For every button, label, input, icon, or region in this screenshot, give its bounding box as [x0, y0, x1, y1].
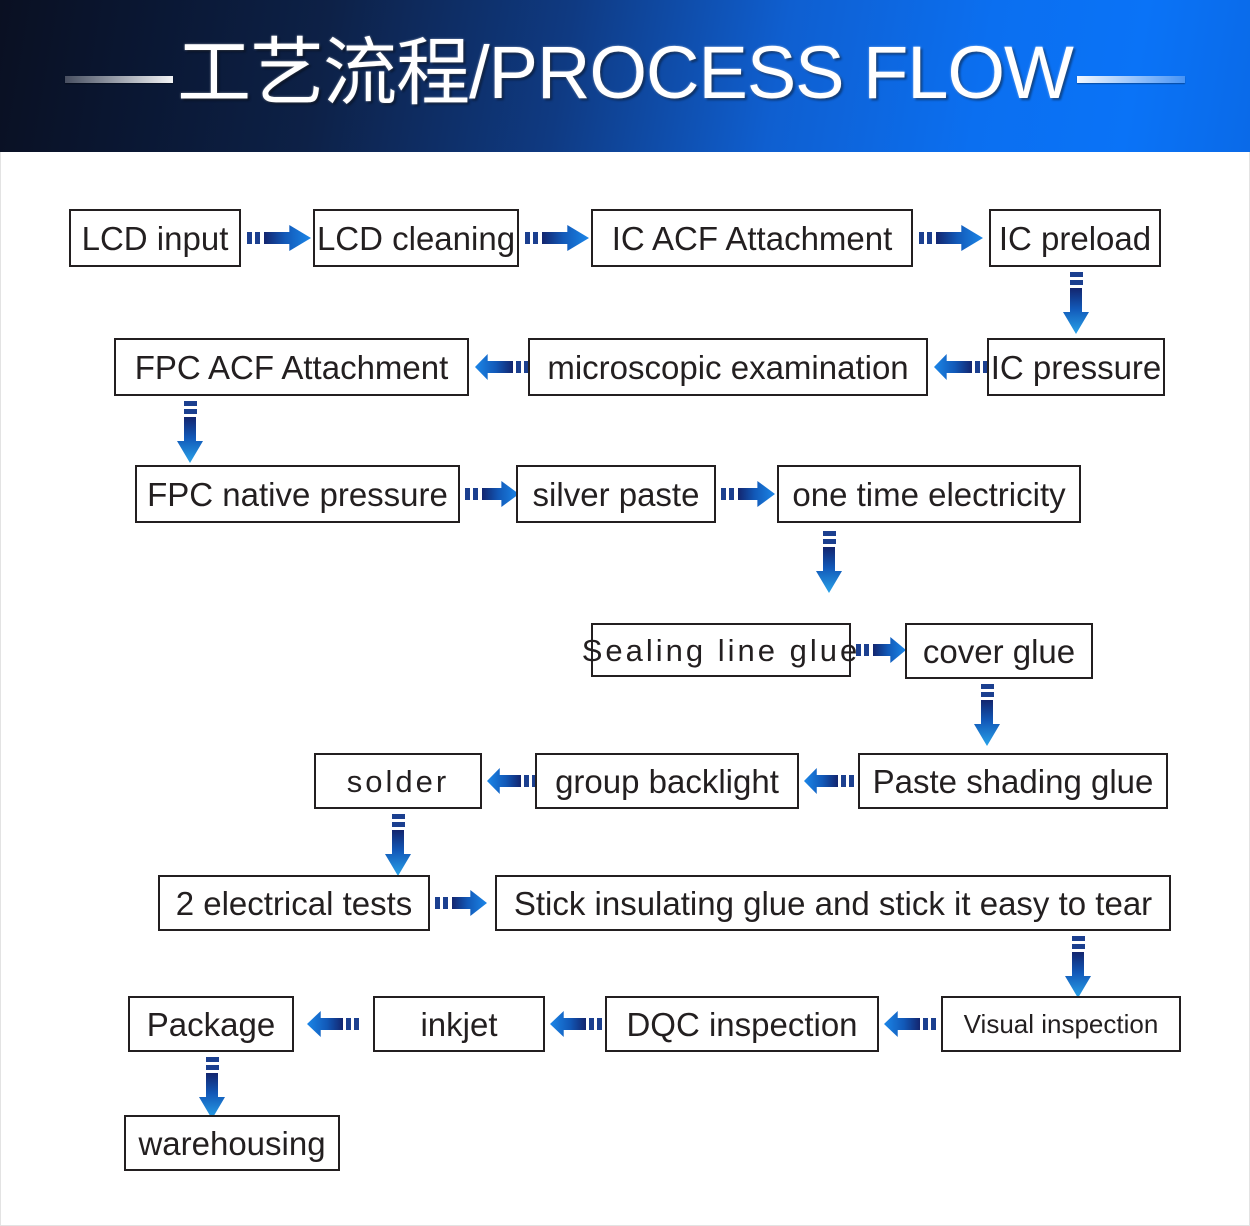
node-sealing-line-glue[interactable]: Sealing line glue — [591, 623, 851, 677]
node-label: Visual inspection — [964, 1011, 1159, 1037]
arrow-visual-inspection-to-dqc-inspection — [884, 1011, 936, 1037]
node-label: FPC ACF Attachment — [135, 351, 449, 384]
arrow-ic-pressure-to-microscopic-examination — [934, 354, 988, 380]
arrow-head-icon — [482, 481, 519, 507]
node-stick-insulating-glue[interactable]: Stick insulating glue and stick it easy … — [495, 875, 1171, 931]
arrow-group-backlight-to-solder — [487, 768, 537, 794]
node-silver-paste[interactable]: silver paste — [516, 465, 716, 523]
arrow-head-icon — [738, 481, 775, 507]
process-flow-page: 工艺流程/PROCESS FLOW — [0, 0, 1250, 1226]
node-ic-pressure[interactable]: IC pressure — [987, 338, 1165, 396]
node-label: IC ACF Attachment — [612, 222, 893, 255]
node-label: cover glue — [923, 635, 1075, 668]
arrow-dash-icon — [597, 1018, 602, 1030]
arrow-stick-insulating-glue-to-visual-inspection — [1065, 936, 1091, 996]
arrow-fpc-acf-attachment-to-fpc-native-pressure — [177, 401, 203, 463]
arrow-dash-icon — [975, 361, 980, 373]
arrow-dash-icon — [255, 232, 260, 244]
arrow-dash-icon — [392, 822, 405, 827]
node-ic-acf-attachment[interactable]: IC ACF Attachment — [591, 209, 913, 267]
page-header-banner: 工艺流程/PROCESS FLOW — [0, 0, 1250, 152]
arrow-dash-icon — [1070, 272, 1083, 277]
arrow-dash-icon — [184, 409, 197, 414]
arrow-dash-icon — [473, 488, 478, 500]
arrow-dash-icon — [354, 1018, 359, 1030]
node-label: LCD cleaning — [317, 222, 515, 255]
header-content: 工艺流程/PROCESS FLOW — [0, 0, 1250, 152]
arrow-dash-icon — [206, 1065, 219, 1070]
arrow-lcd-cleaning-to-ic-acf-attachment — [525, 225, 589, 251]
arrow-head-icon — [974, 700, 1000, 746]
arrow-dash-icon — [206, 1057, 219, 1062]
arrow-dash-icon — [823, 539, 836, 544]
arrow-head-icon — [177, 417, 203, 463]
arrow-head-icon — [1065, 952, 1091, 998]
arrow-dash-icon — [856, 644, 861, 656]
node-label: IC pressure — [991, 351, 1162, 384]
flowchart-canvas: LCD input LCD cleaning IC ACF Attachment — [0, 152, 1250, 1226]
arrow-dash-icon — [392, 814, 405, 819]
node-label: Stick insulating glue and stick it easy … — [514, 887, 1152, 920]
page-title: 工艺流程/PROCESS FLOW — [173, 36, 1077, 116]
arrow-head-icon — [1063, 288, 1089, 334]
arrow-head-icon — [816, 547, 842, 593]
node-label: Package — [147, 1008, 275, 1041]
header-rule-right-icon — [1077, 76, 1185, 83]
node-label: one time electricity — [792, 478, 1065, 511]
header-rule-left-icon — [65, 76, 173, 83]
node-label: silver paste — [533, 478, 700, 511]
arrow-dash-icon — [721, 488, 726, 500]
arrow-head-icon — [936, 225, 983, 251]
arrow-head-icon — [385, 830, 411, 876]
arrow-dash-icon — [927, 232, 932, 244]
node-label: Paste shading glue — [873, 765, 1154, 798]
arrow-2-electrical-tests-to-stick-insulating-glue — [435, 890, 487, 916]
arrow-dash-icon — [981, 692, 994, 697]
arrow-dash-icon — [864, 644, 869, 656]
node-label: LCD input — [82, 222, 229, 255]
node-paste-shading-glue[interactable]: Paste shading glue — [858, 753, 1168, 809]
node-label: group backlight — [555, 765, 779, 798]
node-label: DQC inspection — [626, 1008, 857, 1041]
node-visual-inspection[interactable]: Visual inspection — [941, 996, 1181, 1052]
arrow-head-icon — [804, 768, 838, 794]
arrow-dash-icon — [849, 775, 854, 787]
node-label: microscopic examination — [547, 351, 908, 384]
node-2-electrical-tests[interactable]: 2 electrical tests — [158, 875, 430, 931]
arrow-dash-icon — [533, 232, 538, 244]
arrow-cover-glue-to-paste-shading-glue — [974, 684, 1000, 744]
arrow-dash-icon — [1072, 944, 1085, 949]
node-ic-preload[interactable]: IC preload — [989, 209, 1161, 267]
arrow-head-icon — [550, 1011, 586, 1037]
arrow-head-icon — [199, 1073, 225, 1119]
arrow-dash-icon — [589, 1018, 594, 1030]
node-solder[interactable]: solder — [314, 753, 482, 809]
arrow-dash-icon — [981, 684, 994, 689]
arrow-dash-icon — [525, 232, 530, 244]
arrow-dash-icon — [1072, 936, 1085, 941]
node-label: IC preload — [999, 222, 1151, 255]
arrow-dash-icon — [184, 401, 197, 406]
arrow-dash-icon — [465, 488, 470, 500]
arrow-dash-icon — [516, 361, 521, 373]
arrow-dash-icon — [435, 897, 440, 909]
arrow-head-icon — [452, 890, 487, 916]
arrow-ic-preload-to-ic-pressure — [1063, 272, 1089, 334]
arrow-fpc-native-pressure-to-silver-paste — [465, 481, 519, 507]
arrow-head-icon — [264, 225, 311, 251]
arrow-silver-paste-to-one-time-electricity — [721, 481, 775, 507]
node-label: FPC native pressure — [147, 478, 448, 511]
arrow-microscopic-examination-to-fpc-acf-attachment — [475, 354, 529, 380]
arrow-inkjet-to-package — [307, 1011, 359, 1037]
node-label: inkjet — [420, 1008, 497, 1041]
arrow-head-icon — [873, 637, 906, 663]
node-microscopic-examination[interactable]: microscopic examination — [528, 338, 928, 396]
arrow-dash-icon — [443, 897, 448, 909]
node-label: Sealing line glue — [582, 635, 861, 666]
arrow-head-icon — [487, 768, 521, 794]
arrow-dash-icon — [1070, 280, 1083, 285]
node-label: 2 electrical tests — [176, 887, 413, 920]
arrow-solder-to-2-electrical-tests — [385, 814, 411, 874]
arrow-head-icon — [307, 1011, 343, 1037]
node-cover-glue[interactable]: cover glue — [905, 623, 1093, 679]
arrow-lcd-input-to-lcd-cleaning — [247, 225, 311, 251]
node-dqc-inspection[interactable]: DQC inspection — [605, 996, 879, 1052]
arrow-head-icon — [475, 354, 513, 380]
node-package[interactable]: Package — [128, 996, 294, 1052]
arrow-paste-shading-glue-to-group-backlight — [804, 768, 854, 794]
arrow-dash-icon — [919, 232, 924, 244]
arrow-one-time-electricity-to-sealing-line-glue — [816, 531, 842, 593]
node-lcd-input[interactable]: LCD input — [69, 209, 241, 267]
node-fpc-native-pressure[interactable]: FPC native pressure — [135, 465, 460, 523]
node-label: solder — [347, 766, 449, 797]
arrow-dqc-inspection-to-inkjet — [550, 1011, 602, 1037]
arrow-dash-icon — [247, 232, 252, 244]
arrow-ic-acf-attachment-to-ic-preload — [919, 225, 983, 251]
node-fpc-acf-attachment[interactable]: FPC ACF Attachment — [114, 338, 469, 396]
arrow-package-to-warehousing — [199, 1057, 225, 1115]
arrow-dash-icon — [923, 1018, 928, 1030]
arrow-head-icon — [542, 225, 589, 251]
arrow-dash-icon — [841, 775, 846, 787]
arrow-sealing-line-glue-to-cover-glue — [856, 637, 906, 663]
node-one-time-electricity[interactable]: one time electricity — [777, 465, 1081, 523]
arrow-dash-icon — [931, 1018, 936, 1030]
node-group-backlight[interactable]: group backlight — [535, 753, 799, 809]
arrow-dash-icon — [729, 488, 734, 500]
arrow-head-icon — [884, 1011, 920, 1037]
node-lcd-cleaning[interactable]: LCD cleaning — [313, 209, 519, 267]
node-warehousing[interactable]: warehousing — [124, 1115, 340, 1171]
arrow-dash-icon — [524, 775, 529, 787]
arrow-dash-icon — [823, 531, 836, 536]
node-inkjet[interactable]: inkjet — [373, 996, 545, 1052]
node-label: warehousing — [138, 1127, 325, 1160]
arrow-dash-icon — [346, 1018, 351, 1030]
arrow-head-icon — [934, 354, 972, 380]
